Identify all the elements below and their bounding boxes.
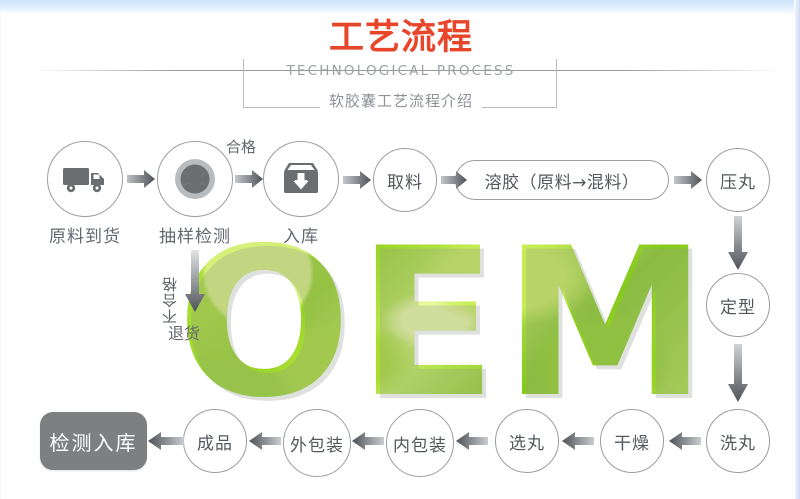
node-pill-sorting[interactable]: 选丸 [495,409,559,473]
arrow-shaping-to-washing [728,344,748,402]
arrow-finished-to-inspection-storage [148,432,184,450]
arrow-picking-to-dissolving [441,171,467,189]
node-warehousing[interactable] [263,141,339,217]
node-shaping[interactable]: 定型 [706,273,770,337]
label-sampling-inspection: 抽样检测 [145,222,245,247]
node-outer-packaging[interactable]: 外包装 [283,409,351,477]
node-material-picking-label: 取料 [387,168,423,193]
right-decorative-band [794,0,800,499]
edge-label-pass: 合格 [226,136,256,157]
edge-label-fail: 不合格 [159,266,180,324]
page-title: 工艺流程 [243,17,559,59]
node-finished-product[interactable]: 成品 [183,409,247,473]
arrow-dissolving-to-pressing [674,171,702,189]
arrow-outer-packaging-to-finished [249,432,281,450]
node-pill-pressing[interactable]: 压丸 [706,148,770,212]
top-decorative-band [0,0,800,14]
edge-label-return: 退货 [168,320,200,344]
node-inspection-storage[interactable]: 检测入库 [40,412,147,470]
node-raw-material-arrival[interactable] [47,141,123,217]
inspection-gear-icon [173,157,217,201]
node-inner-packaging-label: 内包装 [393,431,447,456]
node-pill-washing[interactable]: 洗丸 [706,409,770,473]
node-inner-packaging[interactable]: 内包装 [386,409,454,477]
node-pill-washing-label: 洗丸 [720,429,756,454]
node-pill-sorting-label: 选丸 [509,429,545,454]
node-gel-dissolving-label: 溶胶（原料→混料） [485,168,640,193]
left-decorative-band [0,14,2,499]
oem-watermark: OEM [185,232,705,417]
truck-icon [62,164,108,194]
page-subtitle: TECHNOLOGICAL PROCESS [243,63,559,79]
arrow-warehouse-to-picking [343,171,371,189]
arrow-pressing-to-shaping [728,216,748,270]
page-description: 软胶囊工艺流程介绍 [320,90,482,111]
node-inspection-storage-label: 检测入库 [50,427,138,456]
node-material-picking[interactable]: 取料 [373,148,437,212]
arrow-inspection-to-warehouse [235,170,263,188]
node-gel-dissolving[interactable]: 溶胶（原料→混料） [455,160,669,200]
process-flow-poster: 工艺流程 TECHNOLOGICAL PROCESS 软胶囊工艺流程介绍 OEM… [0,0,800,499]
arrow-truck-to-inspection [127,170,155,188]
label-raw-material-arrival: 原料到货 [35,222,135,247]
node-drying[interactable]: 干燥 [600,409,664,473]
arrow-fail-to-return [185,250,205,312]
arrow-drying-to-sorting [562,432,594,450]
arrow-inner-to-outer-packaging [352,432,384,450]
header-block: 工艺流程 TECHNOLOGICAL PROCESS 软胶囊工艺流程介绍 [243,22,559,114]
node-pill-pressing-label: 压丸 [720,168,756,193]
node-finished-product-label: 成品 [197,429,233,454]
node-drying-label: 干燥 [614,429,650,454]
node-outer-packaging-label: 外包装 [290,431,344,456]
arrow-sorting-to-inner-packaging [456,432,488,450]
node-sampling-inspection[interactable] [157,141,233,217]
arrow-washing-to-drying [669,432,701,450]
label-warehousing: 入库 [251,222,351,247]
inbox-down-arrow-icon [280,161,322,197]
node-shaping-label: 定型 [720,293,756,318]
